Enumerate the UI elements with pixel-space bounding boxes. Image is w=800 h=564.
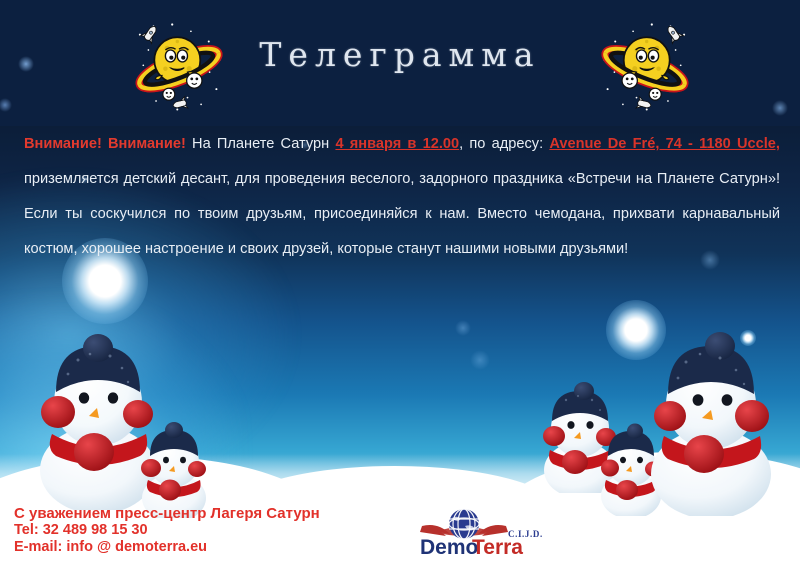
footer-line-phone: Tel: 32 489 98 15 30 [14,522,320,539]
footer-line-email: E-mail: info @ demoterra.eu [14,539,320,556]
logo-demo-text: Demo [420,536,478,558]
demoterra-logo[interactable]: C.I.J.D. Demo Terra [420,504,560,558]
logo-terra-text: Terra [472,536,523,558]
page-title: Телеграмма [0,35,800,74]
event-address: Avenue De Fré, 74 - 1180 Uccle, [549,136,780,152]
address-lead-text: , по адресу: [459,136,549,152]
announcement-rest-text: приземляется детский десант, для проведе… [24,171,780,257]
footer-contact: С уважением пресс-центр Лагеря Сатурн Te… [14,505,320,556]
announcement-body: Внимание! Внимание! На Планете Сатурн 4 … [24,127,780,267]
attention-text: Внимание! Внимание! [24,136,186,152]
announcement-paragraph: Внимание! Внимание! На Планете Сатурн 4 … [24,127,780,267]
footer-line-signature: С уважением пресс-центр Лагеря Сатурн [14,505,320,522]
intro-text: На Планете Сатурн [186,136,336,152]
event-datetime: 4 января в 12.00 [335,136,459,152]
snowman-small-left [128,418,220,518]
telegram-poster: Телеграмма Внимание! Внимание! На Планет… [0,0,800,564]
snowman-large-right [628,330,794,516]
